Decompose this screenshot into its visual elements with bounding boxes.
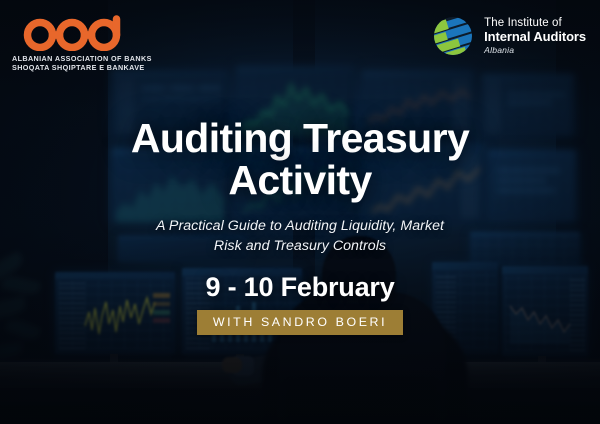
speaker-banner: WITH SANDRO BOERI xyxy=(197,310,403,335)
iia-line-1: The Institute of xyxy=(484,17,586,30)
title-line-1: Auditing Treasury xyxy=(0,118,600,160)
iia-line-2: Internal Auditors xyxy=(484,30,586,45)
title-line-2: Activity xyxy=(0,160,600,202)
subtitle-line-2: Risk and Treasury Controls xyxy=(120,236,480,256)
page-subtitle: A Practical Guide to Auditing Liquidity,… xyxy=(120,216,480,256)
aab-name-sq: SHOQATA SHQIPTARE E BANKAVE xyxy=(12,63,144,72)
poster-center-block: Auditing Treasury Activity A Practical G… xyxy=(0,118,600,335)
event-poster: ALBANIAN ASSOCIATION OF BANKS SHOQATA SH… xyxy=(0,0,600,424)
event-date: 9 - 10 February xyxy=(0,272,600,303)
speaker-banner-wrap: WITH SANDRO BOERI xyxy=(0,310,600,335)
aab-infinity-icon xyxy=(20,13,136,51)
iia-wordmark: The Institute of Internal Auditors Alban… xyxy=(484,17,586,56)
subtitle-line-1: A Practical Guide to Auditing Liquidity,… xyxy=(120,216,480,236)
iia-logo: The Institute of Internal Auditors Alban… xyxy=(431,14,586,58)
aab-logo: ALBANIAN ASSOCIATION OF BANKS SHOQATA SH… xyxy=(12,12,144,72)
globe-icon xyxy=(431,14,475,58)
globe-icon-svg xyxy=(431,14,475,58)
aab-wordmark-icon xyxy=(12,12,144,52)
page-title: Auditing Treasury Activity xyxy=(0,118,600,202)
iia-line-3: Albania xyxy=(484,46,586,56)
poster-content: ALBANIAN ASSOCIATION OF BANKS SHOQATA SH… xyxy=(0,0,600,424)
aab-name-en: ALBANIAN ASSOCIATION OF BANKS xyxy=(12,54,144,63)
